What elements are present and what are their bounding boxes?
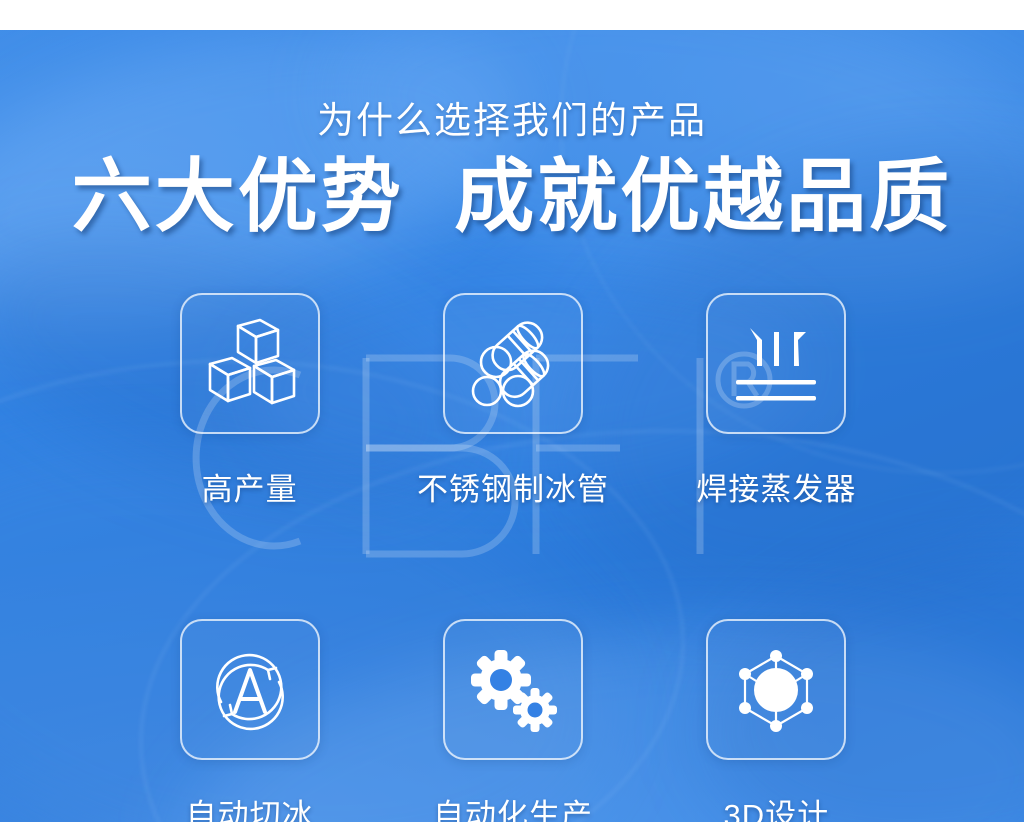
top-white-band (0, 0, 1024, 30)
feature-card[interactable]: 3D设计 (656, 619, 896, 830)
welded-evaporator-icon (728, 318, 824, 410)
icon-frame-wrapper[interactable]: 焊接蒸发器 (656, 293, 896, 509)
feature-card[interactable]: 高产量 (130, 293, 370, 509)
auto-cut-ice-icon (202, 644, 298, 736)
feature-label: 不锈钢制冰管 (417, 464, 609, 509)
feature-grid: 高产量 (118, 293, 908, 830)
feature-label: 焊接蒸发器 (696, 464, 856, 509)
feature-card[interactable]: 自动切冰 (130, 619, 370, 830)
icon-frame (443, 619, 583, 760)
feature-label: 高产量 (202, 464, 298, 509)
promo-banner: 为什么选择我们的产品 六大优势 成就优越品质 (0, 0, 1024, 830)
icon-frame (706, 619, 846, 760)
icon-frame (180, 293, 320, 434)
icon-frame (180, 619, 320, 760)
feature-card[interactable]: 自动化生产 (393, 619, 633, 830)
icon-frame (706, 293, 846, 434)
headline: 六大优势 成就优越品质 (0, 155, 1024, 239)
3d-design-icon (728, 644, 824, 736)
gears-icon (465, 644, 561, 736)
ice-cubes-icon (202, 318, 298, 410)
feature-card[interactable]: 不锈钢制冰管 (393, 293, 633, 509)
ice-tubes-icon (465, 318, 561, 410)
content-layer: 为什么选择我们的产品 六大优势 成就优越品质 (0, 0, 1024, 830)
icon-frame (443, 293, 583, 434)
subtitle: 为什么选择我们的产品 (0, 90, 1024, 144)
bottom-white-band (0, 822, 1024, 830)
